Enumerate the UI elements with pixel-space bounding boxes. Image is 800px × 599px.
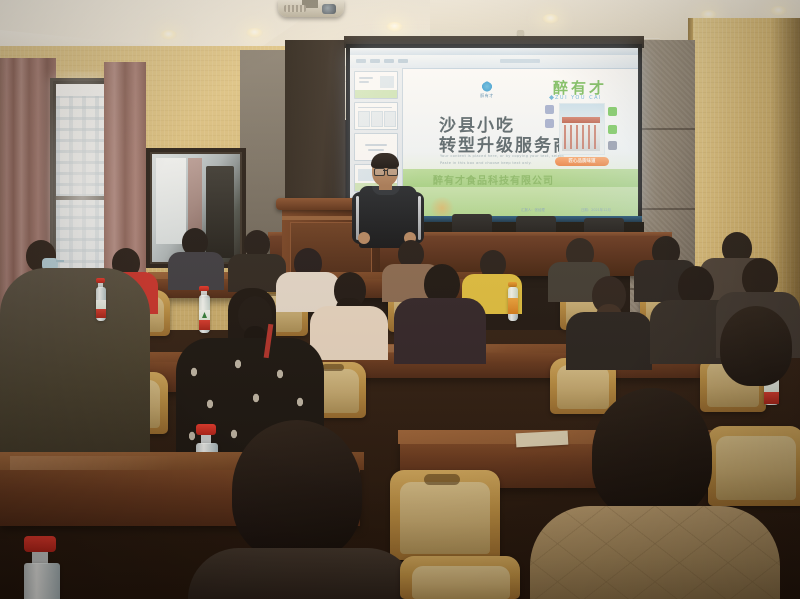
audience-body-olive-jacket <box>0 268 150 468</box>
speaker-hand-left <box>358 232 370 244</box>
audience-body <box>310 306 388 360</box>
foreground-head <box>592 388 712 518</box>
downlight-icon <box>542 14 559 24</box>
paper-handout <box>516 431 569 448</box>
downlight-icon <box>386 22 403 32</box>
audience-body <box>168 252 224 290</box>
audience-body <box>566 312 652 370</box>
chair-handle <box>322 364 344 371</box>
projector-lens-icon <box>322 4 336 14</box>
bottle-cap <box>24 536 56 552</box>
projector-vent <box>284 5 306 12</box>
downlight-icon <box>770 6 787 16</box>
bottle-label-red <box>764 392 779 404</box>
bottle-body <box>24 563 60 599</box>
quilt-stitch-pattern <box>530 506 780 599</box>
chair-pad <box>557 365 609 409</box>
chair-pad <box>716 436 796 500</box>
mirror-reflection-window <box>156 158 186 244</box>
glasses-icon <box>387 168 398 176</box>
chair-pad <box>412 566 510 599</box>
foreground-body <box>188 548 418 599</box>
bottle-label-orange <box>508 298 518 314</box>
chair-pad <box>400 482 490 554</box>
foreground-head <box>720 306 792 386</box>
bottle-label-red <box>96 309 106 318</box>
conference-room-photo: 醉有才 沙县小吃 转型升级服务商 Your content is placed … <box>0 0 800 599</box>
jacket-stripe <box>418 196 421 240</box>
downlight-icon <box>160 30 177 40</box>
chair-handle <box>424 474 460 485</box>
mirror-reflection-cabinet <box>206 166 234 258</box>
bottle-label-red <box>199 320 210 330</box>
bottle-label <box>96 300 106 309</box>
speaker-hair <box>371 153 399 168</box>
bottle-cap <box>196 424 216 435</box>
audience-body <box>394 298 486 364</box>
downlight-icon <box>246 28 263 38</box>
foreground-head <box>232 420 362 560</box>
glasses-bridge <box>383 170 387 171</box>
mask-strap <box>56 260 64 262</box>
